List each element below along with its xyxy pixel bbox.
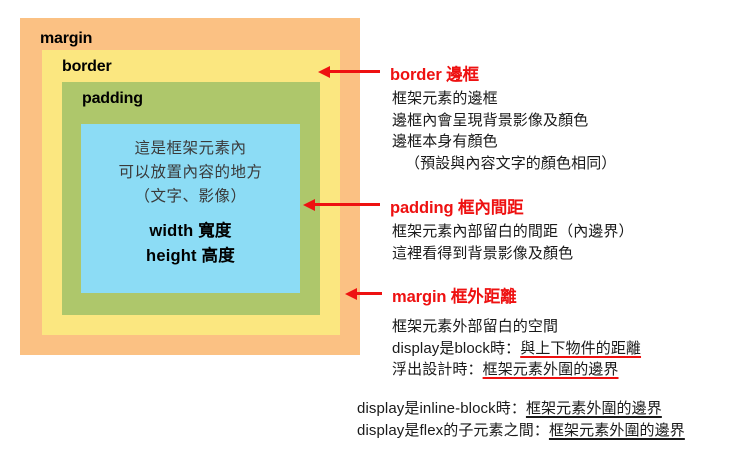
annotation-body-padding: 框架元素內部留白的間距（內邊界） 這裡看得到背景影像及顏色 [392, 221, 634, 264]
annotation-line: 框架元素外部留白的空間 [392, 316, 641, 338]
annotation-line: 這裡看得到背景影像及顏色 [392, 243, 634, 265]
arrow-shaft [354, 292, 382, 295]
annotation-title-padding: padding 框內間距 [390, 194, 524, 218]
footer-line: display是flex的子元素之間：框架元素外圍的邊界 [357, 420, 685, 442]
annotation-line-prefix: display是block時： [392, 340, 520, 357]
annotation-title-margin: margin 框外距離 [392, 283, 517, 307]
annotation-line: （預設與內容文字的顏色相同） [392, 153, 616, 175]
annotation-line-indented: （預設與內容文字的顏色相同） [392, 153, 616, 175]
content-line: 可以放置內容的地方 [81, 161, 300, 185]
footer-line-prefix: display是inline-block時： [357, 400, 526, 417]
annotation-line: display是block時：與上下物件的距離 [392, 338, 641, 360]
annotation-body-border: 框架元素的邊框 邊框內會呈現背景影像及顏色 邊框本身有顏色 （預設與內容文字的顏… [392, 88, 616, 174]
content-box: 這是框架元素內 可以放置內容的地方 （文字、影像） width 寬度 heigh… [81, 124, 300, 293]
margin-box-label: margin [40, 30, 92, 48]
annotation-line: 邊框內會呈現背景影像及顏色 [392, 110, 616, 132]
footer-line-underlined: 框架元素外圍的邊界 [549, 422, 685, 439]
annotation-line-underlined: 與上下物件的距離 [520, 340, 641, 357]
footer-notes: display是inline-block時：框架元素外圍的邊界 display是… [357, 398, 685, 441]
content-box-dimensions: width 寬度 height 高度 [81, 219, 300, 269]
box-model-diagram: margin border padding 這是框架元素內 可以放置內容的地方 … [0, 0, 750, 461]
width-label: width 寬度 [81, 219, 300, 244]
padding-box-label: padding [82, 90, 143, 108]
arrow-shaft [312, 203, 380, 206]
content-line: （文字、影像） [81, 185, 300, 209]
padding-arrow [303, 199, 380, 211]
arrow-shaft [327, 70, 380, 73]
border-box: border padding 這是框架元素內 可以放置內容的地方 （文字、影像）… [42, 50, 340, 335]
annotation-line: 框架元素的邊框 [392, 88, 616, 110]
content-box-description: 這是框架元素內 可以放置內容的地方 （文字、影像） [81, 137, 300, 209]
annotation-body-margin: 框架元素外部留白的空間 display是block時：與上下物件的距離 浮出設計… [392, 316, 641, 381]
annotation-line-prefix: 浮出設計時： [392, 361, 483, 378]
footer-line-prefix: display是flex的子元素之間： [357, 422, 549, 439]
annotation-line: 邊框本身有顏色 [392, 131, 616, 153]
border-box-label: border [62, 58, 111, 76]
content-line: 這是框架元素內 [81, 137, 300, 161]
padding-box: padding 這是框架元素內 可以放置內容的地方 （文字、影像） width … [62, 82, 320, 315]
height-label: height 高度 [81, 244, 300, 269]
footer-line-underlined: 框架元素外圍的邊界 [526, 400, 662, 417]
footer-line: display是inline-block時：框架元素外圍的邊界 [357, 398, 685, 420]
margin-arrow [345, 288, 382, 300]
annotation-line: 框架元素內部留白的間距（內邊界） [392, 221, 634, 243]
border-arrow [318, 66, 380, 78]
annotation-title-border: border 邊框 [390, 61, 479, 85]
margin-box: margin border padding 這是框架元素內 可以放置內容的地方 … [20, 18, 360, 355]
annotation-line-underlined: 框架元素外圍的邊界 [483, 361, 619, 378]
annotation-line: 浮出設計時：框架元素外圍的邊界 [392, 359, 641, 381]
